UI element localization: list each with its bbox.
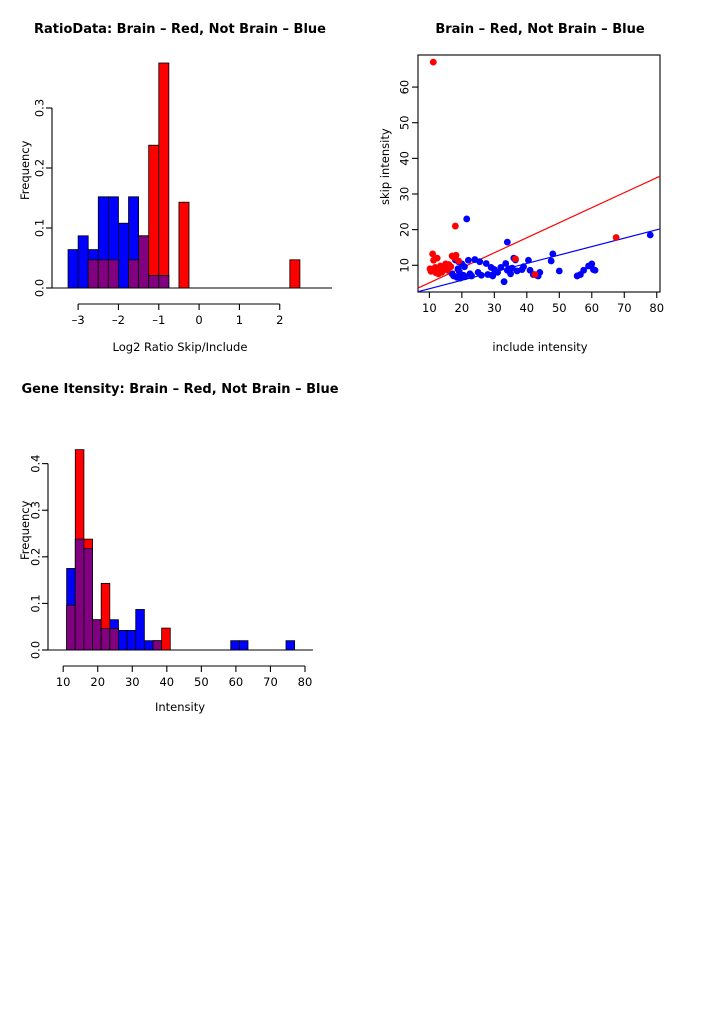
scatter-point — [430, 59, 437, 66]
x-tick-label: 80 — [649, 301, 664, 315]
scatter-xlabel: include intensity — [360, 340, 720, 354]
scatter-point — [478, 272, 485, 279]
gene-hist-ylabel: Frequency — [18, 501, 32, 560]
x-tick-label: 70 — [617, 301, 632, 315]
x-tick-label: 30 — [487, 301, 502, 315]
x-tick-label: 1 — [236, 313, 243, 327]
hist-bar-overlap — [129, 260, 139, 288]
hist-bar-overlap — [110, 629, 119, 650]
x-tick-label: 40 — [159, 675, 174, 689]
scatter-point — [549, 250, 556, 257]
scatter-point — [438, 269, 445, 276]
x-tick-label: 10 — [422, 301, 437, 315]
hist-bar — [286, 641, 295, 650]
x-tick-label: 50 — [194, 675, 209, 689]
scatter-point — [461, 263, 468, 270]
x-tick-label: 10 — [56, 675, 71, 689]
scatter-point — [476, 258, 483, 265]
y-tick-label: 10 — [398, 258, 412, 273]
hist-bar — [118, 630, 127, 650]
hist-bar — [144, 641, 153, 650]
scatter-point — [463, 216, 470, 223]
scatter-point — [507, 270, 514, 277]
hist-bar-overlap — [84, 548, 93, 650]
y-tick-label: 0.0 — [29, 641, 43, 659]
ratio-hist-ylabel: Frequency — [18, 141, 32, 200]
scatter-point — [501, 278, 508, 285]
scatter-point — [504, 239, 511, 246]
x-tick-label: 80 — [298, 675, 313, 689]
x-tick-label: 40 — [519, 301, 534, 315]
scatter-point — [613, 234, 620, 241]
hist-bar-overlap — [139, 236, 149, 288]
scatter-point — [434, 255, 441, 262]
x-tick-label: 0 — [195, 313, 202, 327]
y-tick-label: 0.4 — [29, 454, 43, 472]
y-tick-label: 0.1 — [33, 219, 47, 237]
panel-info: G6937610@J913116_RC@j_at altCassette Mpd… — [360, 360, 720, 720]
y-tick-label: 50 — [398, 115, 412, 130]
hist-bar — [159, 63, 169, 288]
y-tick-label: 0.2 — [33, 159, 47, 177]
x-tick-label: 2 — [276, 313, 283, 327]
scatter-point — [494, 269, 501, 276]
x-tick-label: –2 — [112, 313, 125, 327]
panel-ratio-histogram: RatioData: Brain – Red, Not Brain – Blue… — [0, 0, 360, 360]
hist-bar-overlap — [108, 260, 118, 288]
scatter-point — [512, 255, 519, 262]
scatter-point — [548, 258, 555, 265]
y-tick-label: 60 — [398, 80, 412, 95]
hist-bar-overlap — [67, 605, 76, 650]
hist-bar-overlap — [88, 260, 98, 288]
scatter-point — [556, 268, 563, 275]
hist-bar — [127, 630, 136, 650]
x-tick-label: 30 — [125, 675, 140, 689]
hist-bar — [149, 145, 159, 288]
x-tick-label: 60 — [584, 301, 599, 315]
hist-bar — [290, 260, 300, 288]
scatter-point — [520, 263, 527, 270]
hist-bar-overlap — [101, 629, 110, 650]
hist-bar — [136, 609, 145, 650]
scatter-ylabel: skip intensity — [378, 128, 392, 205]
scatter-point — [532, 271, 539, 278]
y-tick-label: 0.1 — [29, 594, 43, 612]
hist-bar — [162, 628, 171, 650]
scatter-point — [468, 273, 475, 280]
hist-bar-overlap — [159, 275, 169, 288]
hist-bar — [78, 236, 88, 288]
panel-scatter: Brain – Red, Not Brain – Blue 1020304050… — [360, 0, 720, 360]
hist-bar — [231, 641, 240, 650]
x-tick-label: –3 — [72, 313, 85, 327]
x-tick-label: 50 — [552, 301, 567, 315]
ratio-hist-plot: 0.00.10.20.3–3–2–1012 — [0, 0, 360, 360]
scatter-point — [456, 268, 463, 275]
gene-hist-plot: 0.00.10.20.30.41020304050607080 — [0, 360, 360, 720]
scatter-point — [647, 232, 654, 239]
scatter-point — [465, 257, 472, 264]
hist-bar-overlap — [98, 260, 108, 288]
scatter-point — [455, 258, 462, 265]
y-tick-label: 40 — [398, 151, 412, 166]
hist-bar — [118, 223, 128, 288]
hist-bar-overlap — [93, 620, 102, 650]
y-tick-label: 20 — [398, 222, 412, 237]
y-tick-label: 0.0 — [33, 279, 47, 297]
scatter-plot: 1020304050601020304050607080 — [360, 0, 720, 360]
y-tick-label: 0.3 — [33, 99, 47, 117]
ratio-hist-xlabel: Log2 Ratio Skip/Include — [0, 340, 360, 354]
y-tick-label: 30 — [398, 187, 412, 202]
scatter-point — [444, 267, 451, 274]
gene-hist-xlabel: Intensity — [0, 700, 360, 714]
hist-bar-overlap — [149, 275, 159, 288]
hist-bar — [239, 641, 248, 650]
scatter-point — [452, 223, 459, 230]
hist-bar — [68, 250, 78, 288]
hist-bar-overlap — [75, 539, 84, 650]
panel-gene-histogram: Gene Itensity: Brain – Red, Not Brain – … — [0, 360, 360, 720]
hist-bar — [179, 202, 189, 288]
scatter-point — [592, 267, 599, 274]
x-tick-label: 60 — [229, 675, 244, 689]
hist-bar-overlap — [153, 641, 162, 650]
x-tick-label: 70 — [263, 675, 278, 689]
x-tick-label: –1 — [152, 313, 165, 327]
scatter-point — [427, 265, 434, 272]
scatter-point — [525, 257, 532, 264]
scatter-point — [588, 260, 595, 267]
x-tick-label: 20 — [455, 301, 470, 315]
x-tick-label: 20 — [90, 675, 105, 689]
